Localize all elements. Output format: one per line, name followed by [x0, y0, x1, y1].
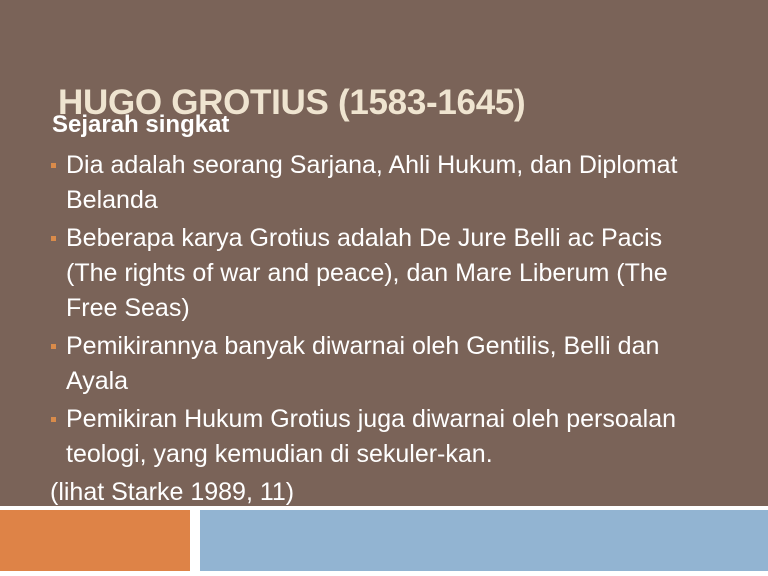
bullet-dot-icon	[51, 417, 56, 422]
list-item-text: Pemikirannya banyak diwarnai oleh Gentil…	[66, 332, 659, 395]
bullet-list: Dia adalah seorang Sarjana, Ahli Hukum, …	[48, 148, 720, 510]
slide: HUGO GROTIUS (1583-1645) Sejarah singkat…	[0, 0, 768, 576]
footer-accent-orange	[0, 510, 190, 571]
list-item: Pemikiran Hukum Grotius juga diwarnai ol…	[48, 402, 720, 472]
footer-bar	[0, 506, 768, 576]
subheading: Sejarah singkat	[52, 110, 720, 140]
citation-text: (lihat Starke 1989, 11)	[48, 475, 720, 510]
list-item: Beberapa karya Grotius adalah De Jure Be…	[48, 221, 720, 326]
list-item-text: Beberapa karya Grotius adalah De Jure Be…	[66, 224, 668, 322]
list-item-text: Pemikiran Hukum Grotius juga diwarnai ol…	[66, 405, 676, 468]
list-item: Pemikirannya banyak diwarnai oleh Gentil…	[48, 329, 720, 399]
bullet-dot-icon	[51, 236, 56, 241]
footer-accent-blue	[200, 510, 768, 571]
bullet-dot-icon	[51, 344, 56, 349]
slide-body: Sejarah singkat Dia adalah seorang Sarja…	[48, 110, 720, 510]
bullet-dot-icon	[51, 163, 56, 168]
list-item-text: Dia adalah seorang Sarjana, Ahli Hukum, …	[66, 151, 677, 214]
list-item: Dia adalah seorang Sarjana, Ahli Hukum, …	[48, 148, 720, 218]
slide-content-area: HUGO GROTIUS (1583-1645) Sejarah singkat…	[0, 0, 768, 506]
